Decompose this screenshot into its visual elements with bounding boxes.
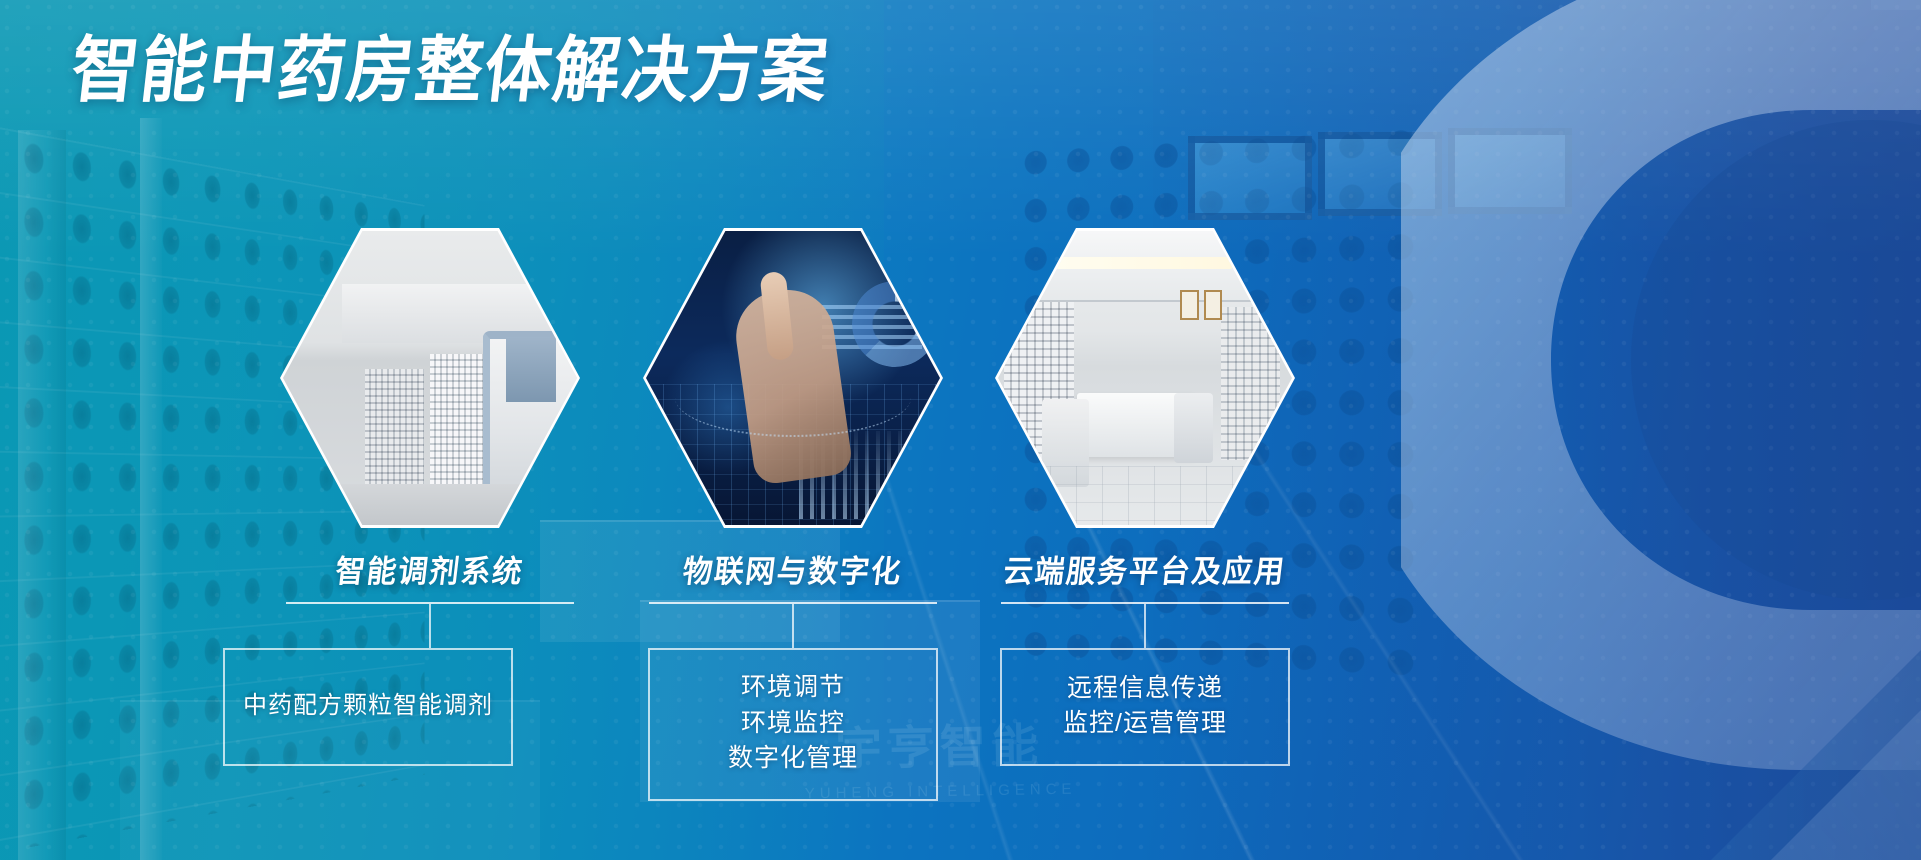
section-heading-iot: 物联网与数字化 — [596, 546, 991, 591]
photo-drawer-wall-right — [1221, 307, 1280, 460]
feature-item: 远程信息传递 — [1008, 671, 1282, 707]
feature-item: 环境调节 — [656, 670, 930, 706]
hexagon-frame-dispensing — [280, 228, 580, 528]
hexagon-image-dispensing — [283, 231, 577, 525]
photo-wall-picture-2 — [1204, 290, 1223, 320]
solution-card-cloud-platform: 云端服务平台及应用 远程信息传递 监控/运营管理 — [940, 228, 1350, 766]
hexagon-image-iot — [646, 231, 940, 525]
photo-wall-picture-1 — [1180, 290, 1199, 320]
photo-floor — [283, 484, 577, 525]
photo-ceiling-light — [1051, 257, 1233, 269]
dispensing-machine-photo — [283, 231, 577, 525]
solution-cards: 智能调剂系统 中药配方颗粒智能调剂 — [0, 0, 1921, 860]
connector-line — [1144, 604, 1146, 648]
hexagon-frame-cloud — [995, 228, 1295, 528]
feature-box-dispensing: 中药配方颗粒智能调剂 — [223, 648, 513, 766]
section-heading-dispensing: 智能调剂系统 — [233, 546, 628, 591]
solution-card-iot-digitalization: 物联网与数字化 环境调节 环境监控 数字化管理 — [588, 228, 998, 801]
feature-item: 监控/运营管理 — [1008, 706, 1282, 742]
feature-item: 环境监控 — [656, 706, 930, 742]
feature-item: 中药配方颗粒智能调剂 — [231, 689, 505, 723]
poster-stage: 宇亨智能 YUHENG INTELLIGENCE 智能中药房整体解决方案 — [0, 0, 1921, 860]
solution-card-intelligent-dispensing: 智能调剂系统 中药配方颗粒智能调剂 — [225, 228, 635, 766]
hexagon-image-cloud — [998, 231, 1292, 525]
hexagon-frame-iot — [643, 228, 943, 528]
photo-dispensing-panel — [506, 337, 556, 402]
connector-line — [429, 604, 431, 648]
section-heading-cloud: 云端服务平台及应用 — [948, 546, 1343, 591]
photo-tiled-floor — [998, 466, 1292, 525]
connector-line — [792, 604, 794, 648]
feature-box-iot: 环境调节 环境监控 数字化管理 — [648, 648, 938, 801]
photo-machine-right — [1174, 393, 1212, 464]
feature-box-cloud: 远程信息传递 监控/运营管理 — [1000, 648, 1290, 766]
photo-cabinet-a — [365, 369, 424, 501]
feature-item: 数字化管理 — [656, 741, 930, 777]
pharmacy-room-photo — [998, 231, 1292, 525]
digital-interface-photo — [646, 231, 940, 525]
photo-trend-line — [675, 358, 910, 436]
photo-cabinet-b — [430, 354, 486, 501]
